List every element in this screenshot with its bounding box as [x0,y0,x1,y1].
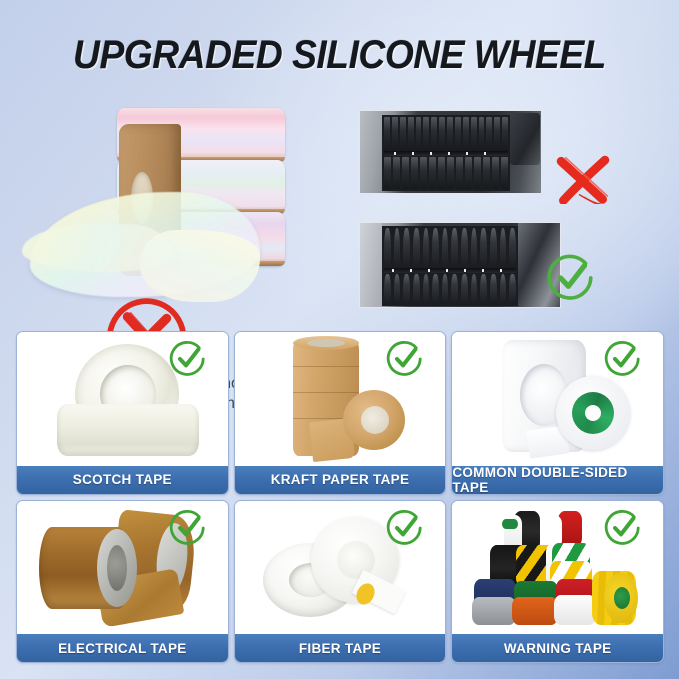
green-check-icon [385,339,437,391]
green-check-icon [603,508,655,560]
silicone-wheels-lower [384,274,516,304]
red-x-icon-shredder-top [553,152,613,204]
card-image-warning-tape [452,501,663,635]
card-warning-tape[interactable]: WARNING TAPE [451,500,664,664]
kraft-roll-hole [361,406,389,434]
green-check-icon [168,339,220,391]
infographic-page: UPGRADED SILICONE WHEEL Elasting ribbon … [0,0,679,679]
page-title: UPGRADED SILICONE WHEEL [24,33,655,78]
scotch-roll-lying [57,404,199,456]
shredder-left-panel [360,223,382,307]
card-image-scotch-tape [17,332,228,466]
card-image-kraft-paper-tape [235,332,446,466]
green-check-icon [603,339,655,391]
card-scotch-tape[interactable]: SCOTCH TAPE [16,331,229,495]
card-label-warning-tape: WARNING TAPE [452,634,663,662]
compatible-tapes-grid: SCOTCH TAPE [16,331,664,663]
card-electrical-tape[interactable]: ELECTRICAL TAPE [16,500,229,664]
card-label-electrical-tape: ELECTRICAL TAPE [17,634,228,662]
card-label-scotch-tape: SCOTCH TAPE [17,466,228,494]
electrical-roll-front-hole [107,545,127,591]
kraft-stack-top-hole [307,339,345,347]
card-fiber-tape[interactable]: FIBER TAPE [234,500,447,664]
card-label-common-double-sided-tape: COMMON DOUBLE-SIDED TAPE [452,466,663,494]
shredder-slot-bottom [384,268,516,273]
card-label-kraft-paper-tape: KRAFT PAPER TAPE [235,466,446,494]
warning-roll-caution-core [614,587,630,609]
ribbon-incompatible-block: Elasting ribbon is not suitable for this… [22,104,322,319]
warning-roll-orange [512,597,558,625]
warning-roll-white-front [554,595,596,625]
green-check-icon-shredder-bottom [545,252,597,304]
shredder-teeth-lower-top [384,157,508,189]
green-check-icon [168,508,220,560]
ribbon-fold [140,230,260,302]
warning-roll-green-stripe [502,519,518,529]
green-check-icon [385,508,437,560]
shredder-teeth-upper-top [384,117,508,151]
shredder-photo-metal-blades [359,110,542,194]
card-label-fiber-tape: FIBER TAPE [235,634,446,662]
shredder-side-module-top [510,113,540,165]
shredder-slot-top [384,151,508,156]
card-image-electrical-tape [17,501,228,635]
card-image-fiber-tape [235,501,446,635]
warning-roll-gray [472,597,516,625]
shredder-photo-silicone-wheel [359,222,561,308]
card-kraft-paper-tape[interactable]: KRAFT PAPER TAPE [234,331,447,495]
card-image-double-sided-tape [452,332,663,466]
silicone-wheels-upper [384,228,516,268]
card-common-double-sided-tape[interactable]: COMMON DOUBLE-SIDED TAPE [451,331,664,495]
